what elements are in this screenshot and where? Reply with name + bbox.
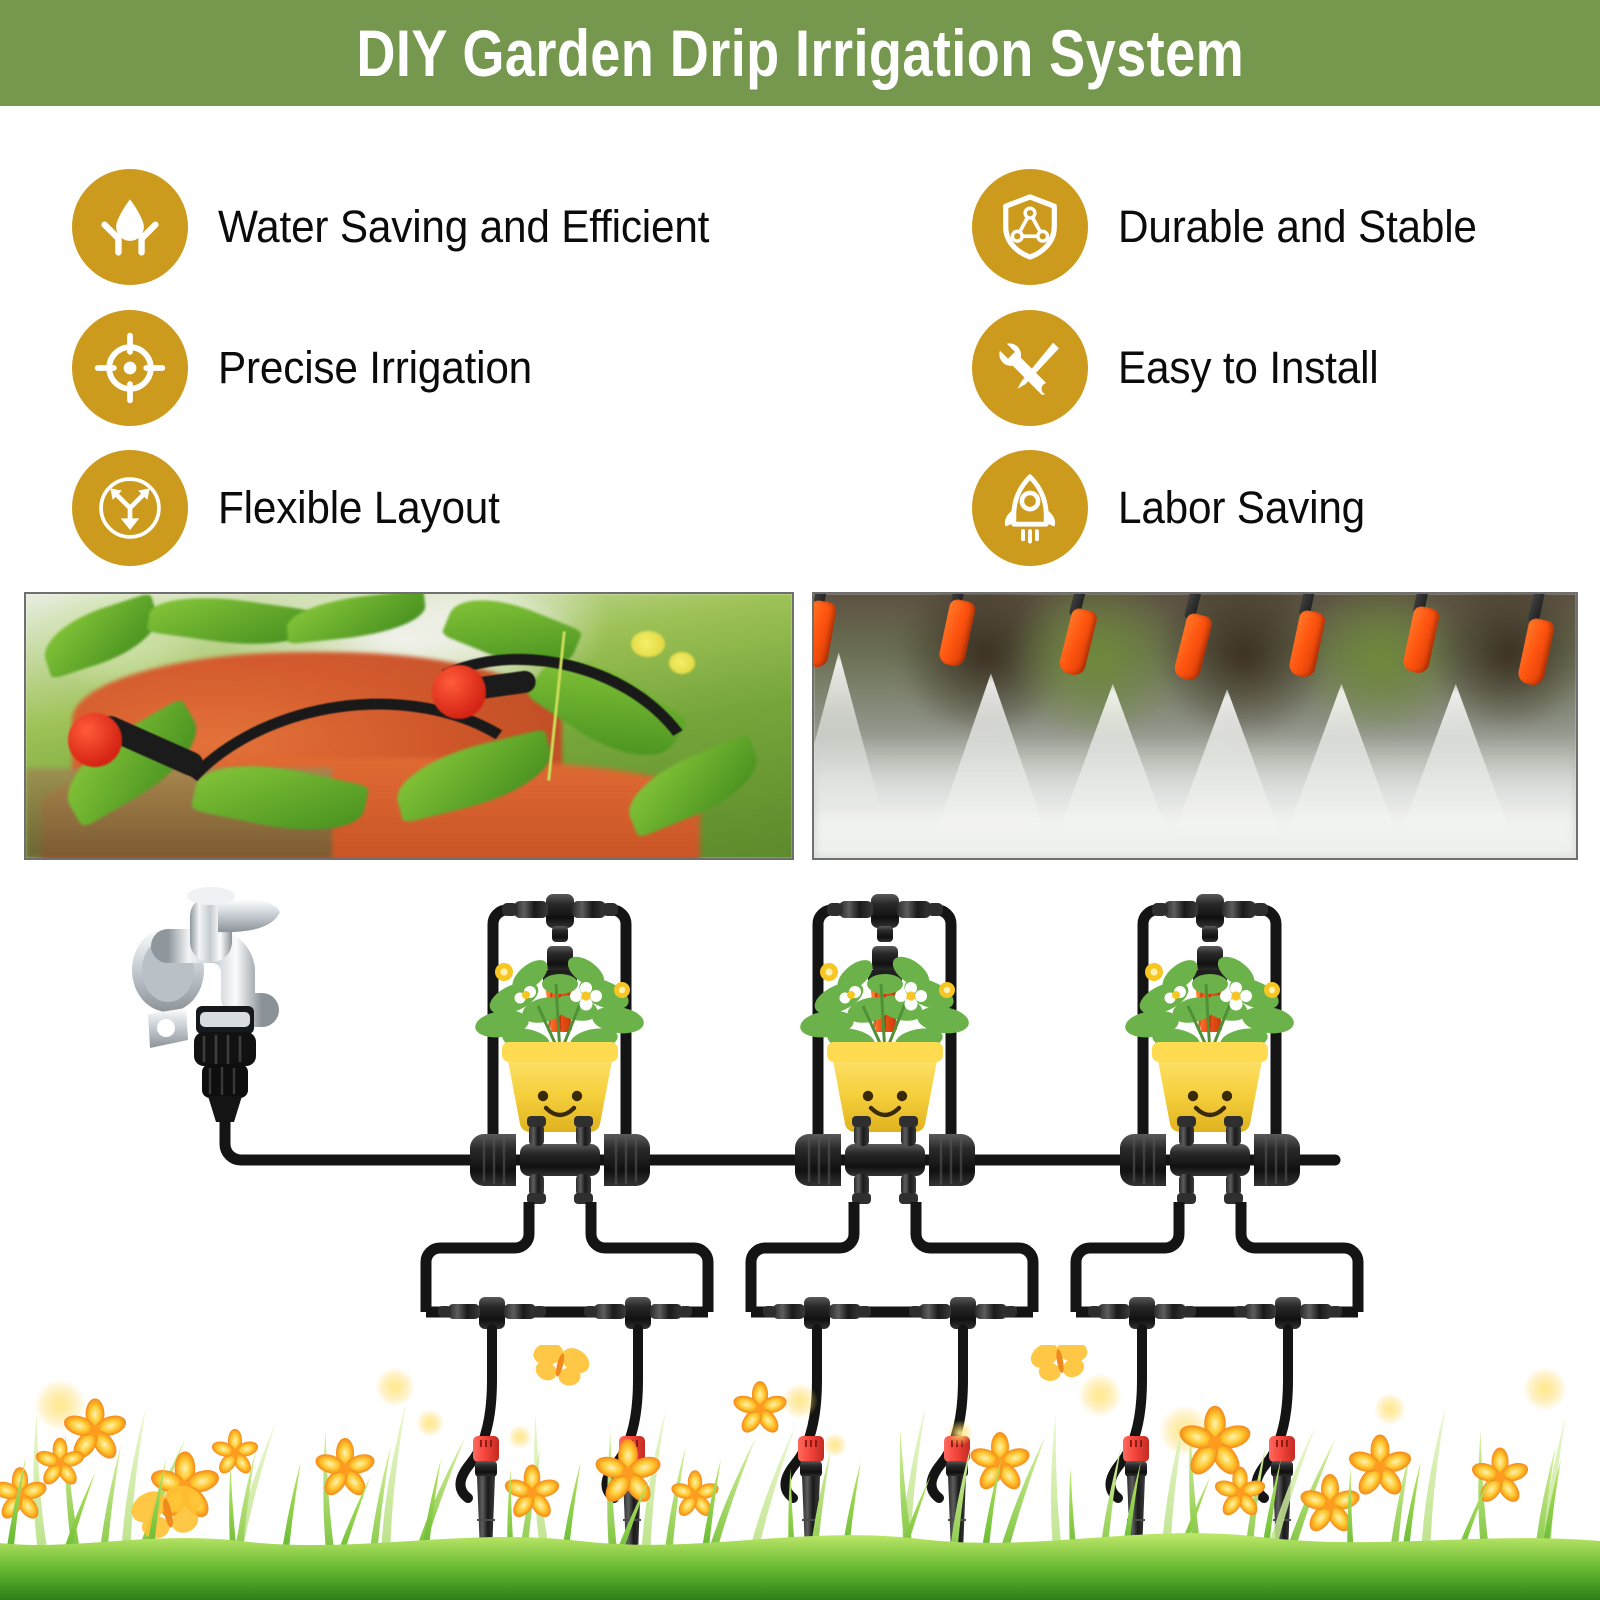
header-banner: DIY Garden Drip Irrigation System	[0, 0, 1600, 106]
potted-plant	[1123, 951, 1295, 1132]
feature-badge	[972, 310, 1088, 426]
background-blur	[1424, 592, 1578, 728]
emitter-head	[68, 713, 122, 767]
feature-badge	[72, 450, 188, 566]
three-arrows-expand-icon	[93, 471, 167, 545]
crosshair-target-icon	[93, 331, 167, 405]
potted-plant	[798, 951, 970, 1132]
lower-loop-tubing	[1241, 1202, 1358, 1312]
lower-loop-tubing	[751, 1202, 854, 1312]
feature-label: Easy to Install	[1118, 342, 1379, 394]
wrench-screwdriver-icon	[993, 331, 1067, 405]
barbed-tee-connector	[502, 894, 618, 942]
feature-badge	[972, 169, 1088, 285]
emitter-head	[432, 665, 486, 719]
bokeh-dots	[34, 1367, 1567, 1457]
illustrated-grass-and-flowers-band	[0, 1345, 1600, 1600]
feature-badge	[72, 310, 188, 426]
feature-label: Precise Irrigation	[218, 342, 532, 394]
barbed-tee-connector	[827, 894, 943, 942]
rocket-icon	[993, 471, 1067, 545]
feature-list: Water Saving and Efficient Precise Irrig…	[0, 140, 1600, 580]
photo-strip	[0, 592, 1600, 872]
feature-item-flexible-layout: Flexible Layout	[72, 448, 518, 568]
main-supply-tubing	[225, 1122, 1335, 1160]
feature-label: Durable and Stable	[1118, 201, 1477, 253]
potted-plant	[473, 951, 645, 1132]
mist-cloud	[814, 737, 1576, 858]
water-drop-hands-icon	[93, 190, 167, 264]
feature-label: Water Saving and Efficient	[218, 201, 709, 253]
page-title: DIY Garden Drip Irrigation System	[356, 15, 1244, 91]
lower-loop-tubing	[1076, 1202, 1179, 1312]
lower-loop-tubing	[591, 1202, 708, 1312]
feature-label: Labor Saving	[1118, 482, 1365, 534]
feature-item-labor-saving: Labor Saving	[972, 448, 1381, 568]
garden-tap-with-quick-connector	[132, 887, 280, 1122]
misting-nozzles-spraying-photo	[812, 592, 1578, 860]
shield-nodes-icon	[993, 190, 1067, 264]
feature-badge	[72, 169, 188, 285]
barbed-tee-connector	[1152, 894, 1268, 942]
lower-loop-tubing	[916, 1202, 1033, 1312]
product-infographic-page: DIY Garden Drip Irrigation System Water …	[0, 0, 1600, 1600]
yellow-flower	[631, 631, 665, 657]
lower-loop-tubing	[426, 1202, 529, 1312]
feature-badge	[972, 450, 1088, 566]
feature-label: Flexible Layout	[218, 482, 500, 534]
feature-item-water-saving: Water Saving and Efficient	[72, 167, 741, 287]
feature-item-durable-stable: Durable and Stable	[972, 167, 1500, 287]
feature-item-easy-install: Easy to Install	[972, 308, 1395, 428]
grass-base	[0, 1533, 1600, 1600]
drip-emitter-on-potted-plant-photo	[24, 592, 794, 860]
feature-item-precise-irrigation: Precise Irrigation	[72, 308, 552, 428]
